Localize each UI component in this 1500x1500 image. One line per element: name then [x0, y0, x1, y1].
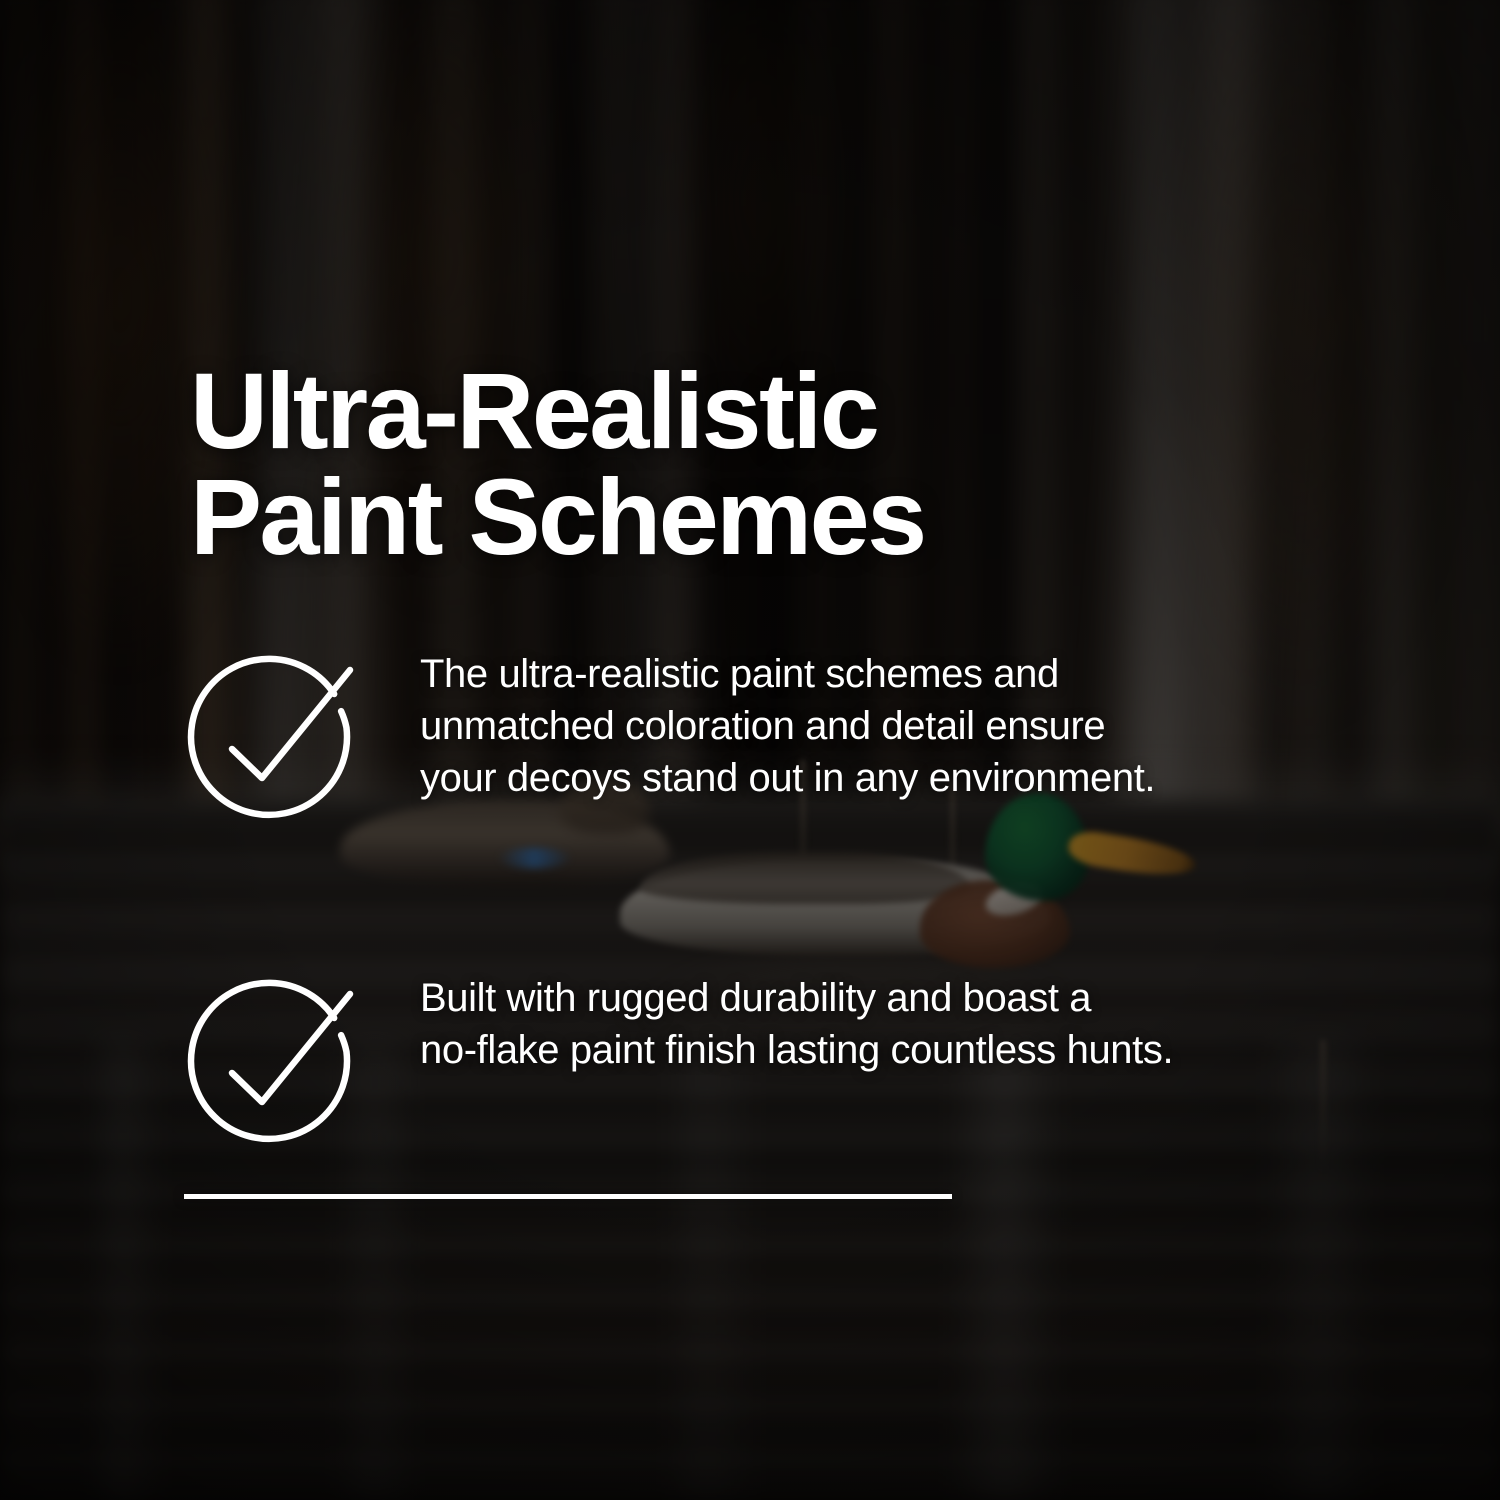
check-circle-icon: [186, 960, 372, 1146]
list-item-label: The ultra-realistic paint schemes and un…: [420, 636, 1426, 804]
list-item: The ultra-realistic paint schemes and un…: [186, 636, 1426, 836]
promo-banner: Ultra-Realistic Paint Schemes The ultra-…: [0, 0, 1500, 1500]
page-title: Ultra-Realistic Paint Schemes: [190, 358, 1310, 570]
feature-list: The ultra-realistic paint schemes and un…: [186, 596, 1426, 1160]
list-item-label: Built with rugged durability and boast a…: [420, 960, 1426, 1076]
divider-rule: [184, 1194, 952, 1199]
content-overlay: Ultra-Realistic Paint Schemes The ultra-…: [0, 0, 1500, 1500]
check-circle-icon: [186, 636, 372, 822]
list-item: Built with rugged durability and boast a…: [186, 960, 1426, 1160]
